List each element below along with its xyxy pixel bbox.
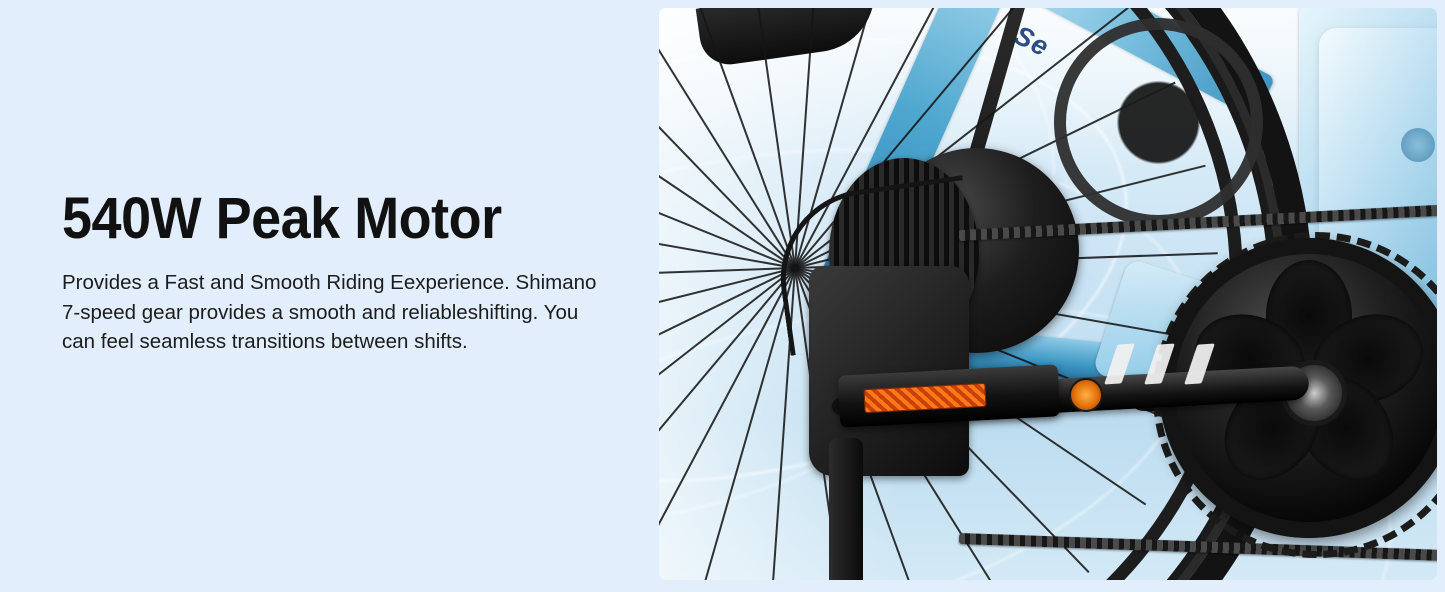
bike-brake-disc <box>1054 18 1263 227</box>
battery-port-icon <box>1401 128 1435 162</box>
studio-backdrop: Se <box>659 8 1437 580</box>
bike-derailleur-cage <box>829 438 863 580</box>
feature-text-column: 540W Peak Motor Provides a Fast and Smoo… <box>62 186 642 357</box>
feature-headline: 540W Peak Motor <box>62 186 601 252</box>
product-feature-banner: 540W Peak Motor Provides a Fast and Smoo… <box>0 0 1445 592</box>
product-photo-panel: Se <box>659 8 1437 580</box>
feature-description: Provides a Fast and Smooth Riding Eexper… <box>62 268 607 357</box>
